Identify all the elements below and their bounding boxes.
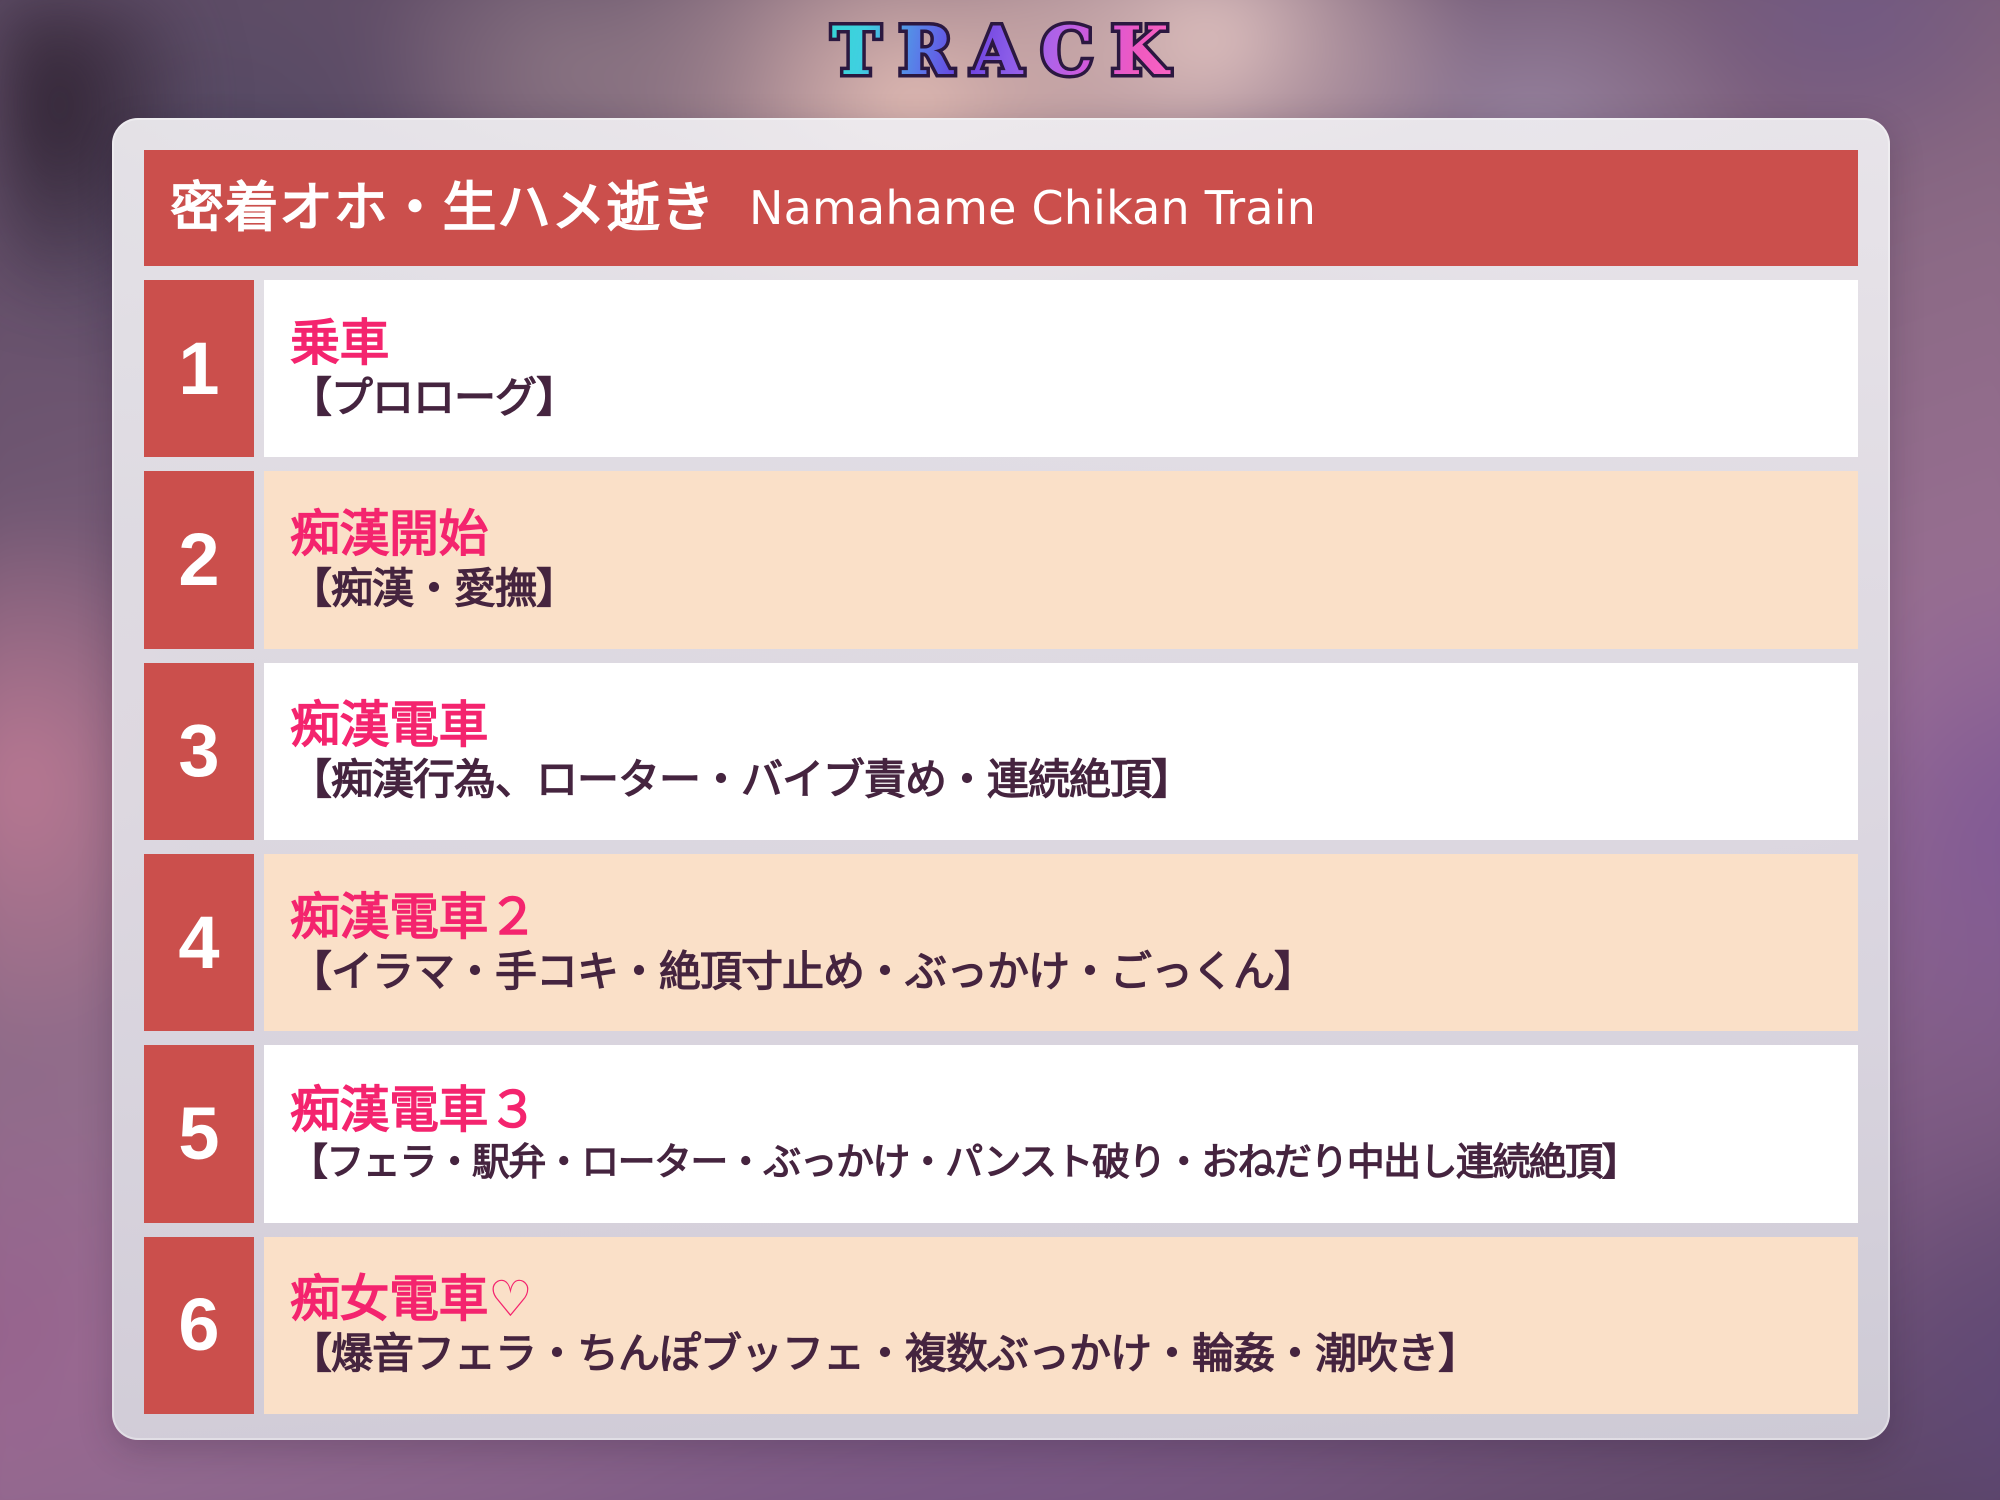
track-body: 痴漢開始【痴漢・愛撫】 xyxy=(264,471,1858,648)
track-title-fill: TRACK xyxy=(831,12,1186,90)
track-row[interactable]: 3痴漢電車【痴漢行為、ローター・バイブ責め・連続絶頂】 xyxy=(144,663,1858,840)
track-title: 痴女電車♡ xyxy=(290,1273,1840,1326)
track-subtitle: 【プロローグ】 xyxy=(290,374,1840,421)
track-subtitle: 【イラマ・手コキ・絶頂寸止め・ぶっかけ・ごっくん】 xyxy=(290,948,1840,995)
track-title: 乗車 xyxy=(290,317,1840,370)
track-number-badge: 5 xyxy=(144,1045,254,1222)
album-header: 密着オホ・生ハメ逝き Namahame Chikan Train xyxy=(144,150,1858,266)
track-body: 乗車【プロローグ】 xyxy=(264,280,1858,457)
track-subtitle: 【痴漢行為、ローター・バイブ責め・連続絶頂】 xyxy=(290,756,1840,803)
track-row[interactable]: 1乗車【プロローグ】 xyxy=(144,280,1858,457)
track-title: 痴漢電車３ xyxy=(290,1084,1840,1137)
track-subtitle: 【痴漢・愛撫】 xyxy=(290,565,1840,612)
page-title: TRACK TRACK xyxy=(0,18,2000,84)
track-row[interactable]: 2痴漢開始【痴漢・愛撫】 xyxy=(144,471,1858,648)
track-title: 痴漢電車 xyxy=(290,699,1840,752)
track-body: 痴女電車♡【爆音フェラ・ちんぽブッフェ・複数ぶっかけ・輪姦・潮吹き】 xyxy=(264,1237,1858,1414)
album-title-romaji: Namahame Chikan Train xyxy=(749,185,1316,231)
track-number-badge: 3 xyxy=(144,663,254,840)
track-subtitle: 【フェラ・駅弁・ローター・ぶっかけ・パンスト破り・おねだり中出し連続絶頂】 xyxy=(290,1141,1840,1184)
album-title-japanese: 密着オホ・生ハメ逝き xyxy=(170,181,715,235)
track-body: 痴漢電車【痴漢行為、ローター・バイブ責め・連続絶頂】 xyxy=(264,663,1858,840)
track-row[interactable]: 4痴漢電車２【イラマ・手コキ・絶頂寸止め・ぶっかけ・ごっくん】 xyxy=(144,854,1858,1031)
track-number-badge: 2 xyxy=(144,471,254,648)
track-list: 1乗車【プロローグ】2痴漢開始【痴漢・愛撫】3痴漢電車【痴漢行為、ローター・バイ… xyxy=(144,280,1858,1414)
track-subtitle: 【爆音フェラ・ちんぽブッフェ・複数ぶっかけ・輪姦・潮吹き】 xyxy=(290,1330,1840,1377)
track-number-badge: 1 xyxy=(144,280,254,457)
tracklist-card: 密着オホ・生ハメ逝き Namahame Chikan Train 1乗車【プロロ… xyxy=(112,118,1890,1440)
track-number-badge: 6 xyxy=(144,1237,254,1414)
track-number-badge: 4 xyxy=(144,854,254,1031)
track-title: 痴漢開始 xyxy=(290,508,1840,561)
track-body: 痴漢電車３【フェラ・駅弁・ローター・ぶっかけ・パンスト破り・おねだり中出し連続絶… xyxy=(264,1045,1858,1222)
track-body: 痴漢電車２【イラマ・手コキ・絶頂寸止め・ぶっかけ・ごっくん】 xyxy=(264,854,1858,1031)
track-title: 痴漢電車２ xyxy=(290,891,1840,944)
track-title-group: TRACK TRACK xyxy=(831,18,1186,84)
track-row[interactable]: 6痴女電車♡【爆音フェラ・ちんぽブッフェ・複数ぶっかけ・輪姦・潮吹き】 xyxy=(144,1237,1858,1414)
track-row[interactable]: 5痴漢電車３【フェラ・駅弁・ローター・ぶっかけ・パンスト破り・おねだり中出し連続… xyxy=(144,1045,1858,1222)
